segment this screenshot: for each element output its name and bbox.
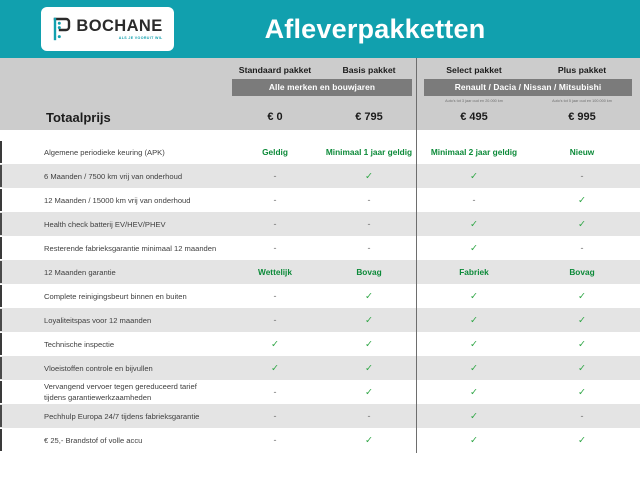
- check-icon: ✓: [470, 387, 478, 398]
- cell-basis: Bovag: [322, 267, 416, 277]
- table-row: 12 Maanden / 15000 km vrij van onderhoud…: [0, 188, 640, 212]
- check-icon: ✓: [365, 171, 373, 182]
- value-text: Bovag: [569, 267, 594, 277]
- logo-wordmark: BOCHANE: [76, 18, 162, 35]
- check-icon: ✓: [470, 243, 478, 254]
- feature-label: 12 Maanden garantie: [0, 267, 228, 278]
- table-row: Algemene periodieke keuring (APK)GeldigM…: [0, 140, 640, 164]
- cell-plus: ✓: [528, 195, 636, 206]
- table-row: € 25,- Brandstof of volle accu-✓✓✓: [0, 428, 640, 452]
- dash-icon: -: [368, 243, 371, 253]
- cell-plus: ✓: [528, 435, 636, 446]
- comparison-table: Algemene periodieke keuring (APK)GeldigM…: [0, 130, 640, 482]
- check-icon: ✓: [365, 387, 373, 398]
- check-icon: ✓: [578, 339, 586, 350]
- feature-label: Loyaliteitspas voor 12 maanden: [0, 315, 228, 326]
- feature-label: Algemene periodieke keuring (APK): [0, 147, 228, 158]
- cell-standaard: ✓: [228, 363, 322, 374]
- cell-select: ✓: [420, 339, 528, 350]
- cell-standaard: -: [228, 315, 322, 325]
- bochane-logo[interactable]: BOCHANE ALS JE VOORUIT WIL: [41, 7, 174, 51]
- cell-basis: -: [322, 219, 416, 229]
- check-icon: ✓: [578, 315, 586, 326]
- total-price-label: Totaalprijs: [0, 110, 228, 125]
- cell-basis: -: [322, 411, 416, 421]
- cell-standaard: -: [228, 243, 322, 253]
- dash-icon: -: [473, 195, 476, 205]
- cell-select: ✓: [420, 435, 528, 446]
- check-icon: ✓: [271, 339, 279, 350]
- dash-icon: -: [274, 195, 277, 205]
- cell-plus: ✓: [528, 219, 636, 230]
- dash-icon: -: [274, 291, 277, 301]
- feature-label: Resterende fabrieksgarantie minimaal 12 …: [0, 243, 228, 254]
- total-price-select: € 495: [420, 111, 528, 123]
- cell-standaard: -: [228, 291, 322, 301]
- check-icon: ✓: [365, 291, 373, 302]
- cell-select: ✓: [420, 291, 528, 302]
- check-icon: ✓: [470, 363, 478, 374]
- cell-select: ✓: [420, 171, 528, 182]
- table-row: Vloeistoffen controle en bijvullen✓✓✓✓: [0, 356, 640, 380]
- feature-label: Pechhulp Europa 24/7 tijdens fabrieksgar…: [0, 411, 228, 422]
- cell-basis: ✓: [322, 435, 416, 446]
- check-icon: ✓: [470, 171, 478, 182]
- dash-icon: -: [368, 219, 371, 229]
- cell-standaard: Wettelijk: [228, 267, 322, 277]
- total-price-plus: € 995: [528, 111, 636, 123]
- table-top-spacer: [0, 130, 640, 140]
- check-icon: ✓: [578, 387, 586, 398]
- cell-standaard: ✓: [228, 339, 322, 350]
- package-scope-renault-group: Renault / Dacia / Nissan / Mitsubishi: [424, 79, 632, 96]
- value-text: Bovag: [356, 267, 381, 277]
- cell-select: ✓: [420, 243, 528, 254]
- dash-icon: -: [581, 243, 584, 253]
- check-icon: ✓: [578, 291, 586, 302]
- table-row: 6 Maanden / 7500 km vrij van onderhoud-✓…: [0, 164, 640, 188]
- cell-plus: ✓: [528, 291, 636, 302]
- package-note-select: Auto's tot 3 jaar oud en 20.000 km: [420, 99, 528, 103]
- feature-label: Complete reinigingsbeurt binnen en buite…: [0, 291, 228, 302]
- check-icon: ✓: [470, 339, 478, 350]
- package-scope-all-brands: Alle merken en bouwjaren: [232, 79, 412, 96]
- feature-label: Technische inspectie: [0, 339, 228, 350]
- cell-basis: ✓: [322, 339, 416, 350]
- cell-select: ✓: [420, 219, 528, 230]
- cell-select: -: [420, 195, 528, 205]
- page-header: BOCHANE ALS JE VOORUIT WIL Afleverpakket…: [0, 0, 640, 58]
- cell-basis: ✓: [322, 387, 416, 398]
- table-bottom-spacer: [0, 452, 640, 482]
- check-icon: ✓: [271, 363, 279, 374]
- table-body: Algemene periodieke keuring (APK)GeldigM…: [0, 140, 640, 452]
- cell-standaard: -: [228, 171, 322, 181]
- feature-label: € 25,- Brandstof of volle accu: [0, 435, 228, 446]
- feature-label: 6 Maanden / 7500 km vrij van onderhoud: [0, 171, 228, 182]
- check-icon: ✓: [578, 219, 586, 230]
- package-name-basis: Basis pakket: [322, 65, 416, 75]
- cell-plus: Nieuw: [528, 147, 636, 157]
- cell-basis: ✓: [322, 171, 416, 182]
- cell-standaard: -: [228, 219, 322, 229]
- value-text: Minimaal 2 jaar geldig: [431, 147, 517, 157]
- feature-label: Vervangend vervoer tegen gereduceerd tar…: [0, 381, 228, 403]
- check-icon: ✓: [470, 315, 478, 326]
- table-row: Health check batterij EV/HEV/PHEV--✓✓: [0, 212, 640, 236]
- cell-basis: ✓: [322, 315, 416, 326]
- value-text: Minimaal 1 jaar geldig: [326, 147, 412, 157]
- package-header-band: Standaard pakket Basis pakket Alle merke…: [0, 58, 640, 130]
- dash-icon: -: [274, 219, 277, 229]
- check-icon: ✓: [578, 363, 586, 374]
- check-icon: ✓: [470, 219, 478, 230]
- table-row: Pechhulp Europa 24/7 tijdens fabrieksgar…: [0, 404, 640, 428]
- check-icon: ✓: [578, 195, 586, 206]
- cell-plus: ✓: [528, 363, 636, 374]
- cell-plus: ✓: [528, 387, 636, 398]
- bochane-logomark-icon: [52, 16, 71, 42]
- value-text: Wettelijk: [258, 267, 292, 277]
- dash-icon: -: [581, 171, 584, 181]
- cell-plus: -: [528, 243, 636, 253]
- cell-basis: Minimaal 1 jaar geldig: [322, 147, 416, 157]
- table-row: Vervangend vervoer tegen gereduceerd tar…: [0, 380, 640, 404]
- cell-basis: -: [322, 195, 416, 205]
- dash-icon: -: [274, 171, 277, 181]
- check-icon: ✓: [365, 339, 373, 350]
- check-icon: ✓: [365, 315, 373, 326]
- cell-select: Minimaal 2 jaar geldig: [420, 147, 528, 157]
- dash-icon: -: [274, 243, 277, 253]
- value-text: Geldig: [262, 147, 288, 157]
- cell-select: ✓: [420, 363, 528, 374]
- total-price-row: Totaalprijs € 0 € 795 € 495 € 995: [0, 104, 640, 130]
- table-row: Loyaliteitspas voor 12 maanden-✓✓✓: [0, 308, 640, 332]
- cell-plus: -: [528, 411, 636, 421]
- cell-select: ✓: [420, 387, 528, 398]
- table-row: Technische inspectie✓✓✓✓: [0, 332, 640, 356]
- dash-icon: -: [274, 387, 277, 397]
- cell-standaard: -: [228, 195, 322, 205]
- check-icon: ✓: [578, 435, 586, 446]
- total-price-standaard: € 0: [228, 111, 322, 123]
- cell-plus: -: [528, 171, 636, 181]
- dash-icon: -: [274, 411, 277, 421]
- check-icon: ✓: [365, 363, 373, 374]
- package-group-divider: [416, 58, 417, 453]
- table-row: 12 Maanden garantieWettelijkBovagFabriek…: [0, 260, 640, 284]
- cell-select: ✓: [420, 411, 528, 422]
- package-name-standaard: Standaard pakket: [228, 65, 322, 75]
- feature-label: 12 Maanden / 15000 km vrij van onderhoud: [0, 195, 228, 206]
- logo-tagline: ALS JE VOORUIT WIL: [119, 37, 163, 41]
- cell-standaard: -: [228, 435, 322, 445]
- cell-plus: ✓: [528, 339, 636, 350]
- table-row: Complete reinigingsbeurt binnen en buite…: [0, 284, 640, 308]
- cell-basis: -: [322, 243, 416, 253]
- package-name-select: Select pakket: [420, 65, 528, 75]
- cell-standaard: -: [228, 387, 322, 397]
- dash-icon: -: [274, 315, 277, 325]
- value-text: Fabriek: [459, 267, 489, 277]
- cell-select: ✓: [420, 315, 528, 326]
- cell-standaard: Geldig: [228, 147, 322, 157]
- cell-plus: ✓: [528, 315, 636, 326]
- feature-label: Vloeistoffen controle en bijvullen: [0, 363, 228, 374]
- check-icon: ✓: [470, 411, 478, 422]
- check-icon: ✓: [470, 291, 478, 302]
- cell-standaard: -: [228, 411, 322, 421]
- table-row: Resterende fabrieksgarantie minimaal 12 …: [0, 236, 640, 260]
- check-icon: ✓: [365, 435, 373, 446]
- total-price-basis: € 795: [322, 111, 416, 123]
- cell-basis: ✓: [322, 291, 416, 302]
- package-note-plus: Auto's tot 5 jaar oud en 100.000 km: [528, 99, 636, 103]
- package-name-plus: Plus pakket: [528, 65, 636, 75]
- dash-icon: -: [368, 411, 371, 421]
- value-text: Nieuw: [570, 147, 594, 157]
- cell-plus: Bovag: [528, 267, 636, 277]
- feature-label: Health check batterij EV/HEV/PHEV: [0, 219, 228, 230]
- dash-icon: -: [274, 435, 277, 445]
- check-icon: ✓: [470, 435, 478, 446]
- dash-icon: -: [368, 195, 371, 205]
- cell-select: Fabriek: [420, 267, 528, 277]
- cell-basis: ✓: [322, 363, 416, 374]
- dash-icon: -: [581, 411, 584, 421]
